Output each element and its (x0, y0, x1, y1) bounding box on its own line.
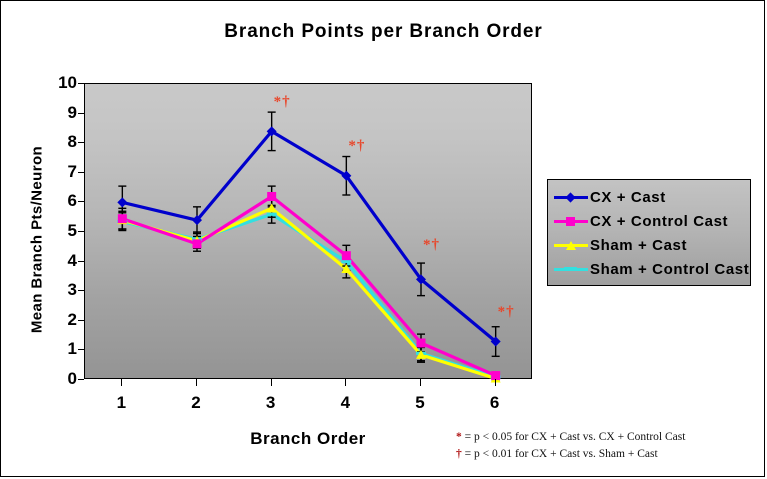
plot-svg (85, 84, 533, 380)
x-tick-label: 6 (475, 393, 515, 413)
series-2 (122, 196, 495, 375)
plot-area (84, 83, 532, 379)
legend-label: CX + Cast (590, 189, 666, 206)
legend-swatch-triangle-icon (554, 237, 588, 253)
legend-item-2[interactable]: CX + Control Cast (554, 209, 750, 233)
legend-swatch-square-icon (554, 213, 588, 229)
x-tick-label: 2 (176, 393, 216, 413)
legend-label: Sham + Control Cast (590, 261, 749, 278)
y-tick-label: 9 (53, 104, 77, 121)
footnote-1: * = p < 0.05 for CX + Cast vs. CX + Cont… (456, 429, 756, 446)
y-tick-mark (78, 83, 84, 84)
x-tick-label: 3 (251, 393, 291, 413)
x-tick-label: 4 (325, 393, 365, 413)
footnote-2: † = p < 0.01 for CX + Cast vs. Sham + Ca… (456, 446, 756, 463)
x-tick-mark (420, 379, 421, 386)
y-tick-label: 3 (53, 281, 77, 298)
y-tick-label: 5 (53, 222, 77, 239)
y-tick-label: 8 (53, 133, 77, 150)
series-markers-3 (117, 203, 500, 382)
y-tick-mark (78, 379, 84, 380)
y-tick-mark (78, 320, 84, 321)
x-tick-mark (271, 379, 272, 386)
significance-marker: *† (498, 304, 515, 321)
y-tick-label: 0 (53, 370, 77, 387)
legend-marker-diamond-icon (565, 192, 575, 202)
footnote-text: = p < 0.01 for CX + Cast vs. Sham + Cast (462, 448, 658, 460)
legend-label: Sham + Cast (590, 237, 687, 254)
y-tick-mark (78, 201, 84, 202)
legend-item-4[interactable]: Sham + Control Cast (554, 257, 750, 281)
legend-marker-square-icon (566, 217, 575, 226)
y-tick-mark (78, 261, 84, 262)
significance-marker: *† (348, 138, 365, 155)
x-tick-label: 5 (400, 393, 440, 413)
y-tick-label: 7 (53, 163, 77, 180)
footnotes-block: * = p < 0.05 for CX + Cast vs. CX + Cont… (456, 429, 756, 462)
x-tick-mark (121, 379, 122, 386)
x-tick-mark (495, 379, 496, 386)
legend-marker-triangle-icon (566, 241, 576, 250)
y-tick-label: 4 (53, 252, 77, 269)
x-tick-mark (196, 379, 197, 386)
y-tick-mark (78, 231, 84, 232)
y-tick-label: 2 (53, 311, 77, 328)
significance-marker: *† (423, 237, 440, 254)
y-tick-label: 6 (53, 192, 77, 209)
legend-item-3[interactable]: Sham + Cast (554, 233, 750, 257)
significance-marker: *† (274, 94, 291, 111)
y-tick-label: 1 (53, 340, 77, 357)
legend-item-1[interactable]: CX + Cast (554, 185, 750, 209)
chart-container: Branch Points per Branch Order Mean Bran… (0, 0, 765, 477)
legend-swatch-line-icon (554, 261, 588, 277)
y-axis-title: Mean Branch Pts/Neuron (29, 95, 46, 385)
y-tick-mark (78, 142, 84, 143)
legend-swatch-diamond-icon (554, 189, 588, 205)
chart-legend: CX + CastCX + Control CastSham + CastSha… (547, 179, 751, 286)
legend-label: CX + Control Cast (590, 213, 728, 230)
footnote-text: = p < 0.05 for CX + Cast vs. CX + Contro… (462, 431, 686, 443)
chart-title: Branch Points per Branch Order (1, 21, 766, 43)
y-tick-mark (78, 113, 84, 114)
x-tick-label: 1 (101, 393, 141, 413)
y-tick-label: 10 (53, 74, 77, 91)
y-tick-mark (78, 172, 84, 173)
y-tick-mark (78, 290, 84, 291)
legend-marker-line-icon (564, 267, 577, 271)
x-tick-mark (345, 379, 346, 386)
y-axis-tick-labels: 012345678910 (49, 83, 77, 379)
y-tick-mark (78, 349, 84, 350)
